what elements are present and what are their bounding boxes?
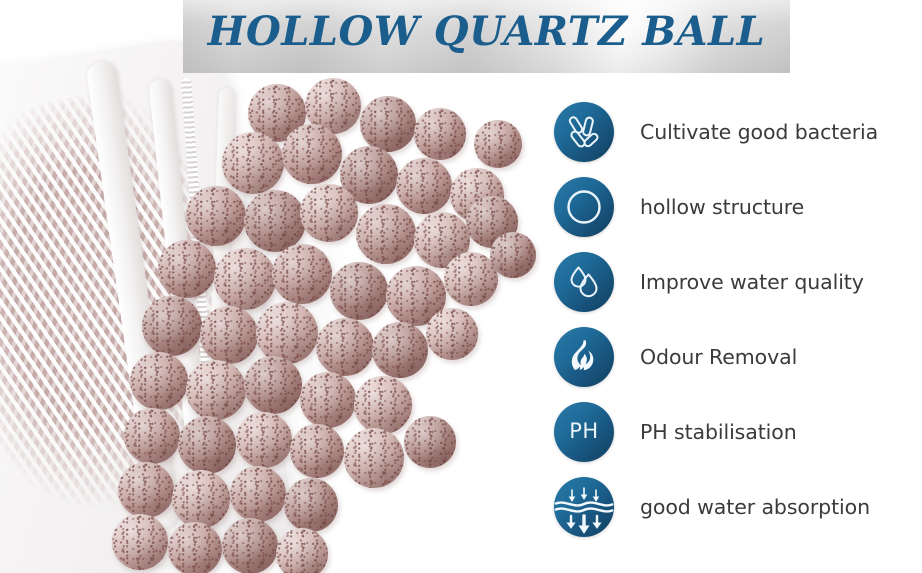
quartz-ball	[360, 96, 416, 152]
quartz-ball	[130, 352, 188, 410]
quartz-ball	[330, 262, 388, 320]
quartz-ball	[244, 356, 302, 414]
quartz-ball	[236, 412, 292, 468]
flame-icon	[554, 327, 614, 387]
feature-label: good water absorption	[640, 495, 870, 519]
quartz-ball	[142, 296, 202, 356]
quartz-ball	[284, 478, 338, 532]
water-drops-icon	[554, 252, 614, 312]
feature-label: Odour Removal	[640, 345, 797, 369]
quartz-ball	[490, 232, 536, 278]
page-title: HOLLOW QUARTZ BALL	[183, 8, 790, 55]
ph-icon: PH	[554, 402, 614, 462]
quartz-ball	[256, 302, 318, 364]
quartz-ball	[222, 518, 278, 573]
quartz-ball	[474, 120, 522, 168]
quartz-ball	[316, 318, 374, 376]
water-absorption-icon	[554, 477, 614, 537]
quartz-ball	[172, 470, 230, 528]
quartz-ball	[300, 184, 358, 242]
product-infographic: HOLLOW QUARTZ BALL Cultivate good bacter…	[0, 0, 922, 573]
quartz-ball	[200, 306, 258, 364]
quartz-ball	[158, 240, 216, 298]
quartz-ball	[372, 322, 428, 378]
bacteria-icon	[554, 102, 614, 162]
feature-row-hollow-structure: hollow structure	[545, 169, 922, 244]
feature-row-improve-water-quality: Improve water quality	[545, 244, 922, 319]
quartz-ball	[354, 376, 412, 434]
quartz-ball	[214, 248, 276, 310]
feature-row-ph-stabilisation: PH PH stabilisation	[545, 394, 922, 469]
quartz-ball	[178, 416, 236, 474]
quartz-ball	[396, 158, 452, 214]
quartz-ball	[282, 124, 342, 184]
feature-label: hollow structure	[640, 195, 804, 219]
quartz-ball	[230, 466, 286, 522]
product-photo	[0, 0, 545, 573]
title-banner: HOLLOW QUARTZ BALL	[183, 0, 790, 73]
quartz-ball	[222, 132, 284, 194]
quartz-ball	[414, 108, 466, 160]
quartz-ball	[426, 308, 478, 360]
quartz-ball	[344, 428, 404, 488]
hollow-ring-icon	[554, 177, 614, 237]
quartz-ball	[300, 372, 356, 428]
feature-row-good-water-absorption: good water absorption	[545, 469, 922, 544]
quartz-ball	[124, 408, 180, 464]
quartz-ball	[118, 462, 174, 518]
feature-row-odour-removal: Odour Removal	[545, 319, 922, 394]
quartz-ball	[290, 424, 344, 478]
feature-label: PH stabilisation	[640, 420, 797, 444]
quartz-ball	[186, 360, 246, 420]
quartz-ball	[356, 204, 416, 264]
quartz-ball	[112, 514, 168, 570]
feature-row-cultivate-good-bacteria: Cultivate good bacteria	[545, 94, 922, 169]
feature-label: Improve water quality	[640, 270, 864, 294]
quartz-ball	[272, 244, 332, 304]
quartz-ball	[244, 190, 306, 252]
quartz-ball	[186, 186, 246, 246]
quartz-ball	[276, 528, 328, 573]
quartz-ball	[404, 416, 456, 468]
feature-label: Cultivate good bacteria	[640, 120, 878, 144]
ph-icon-label: PH	[569, 421, 598, 442]
quartz-ball	[168, 522, 222, 573]
feature-list: Cultivate good bacteria hollow structure	[545, 94, 922, 544]
